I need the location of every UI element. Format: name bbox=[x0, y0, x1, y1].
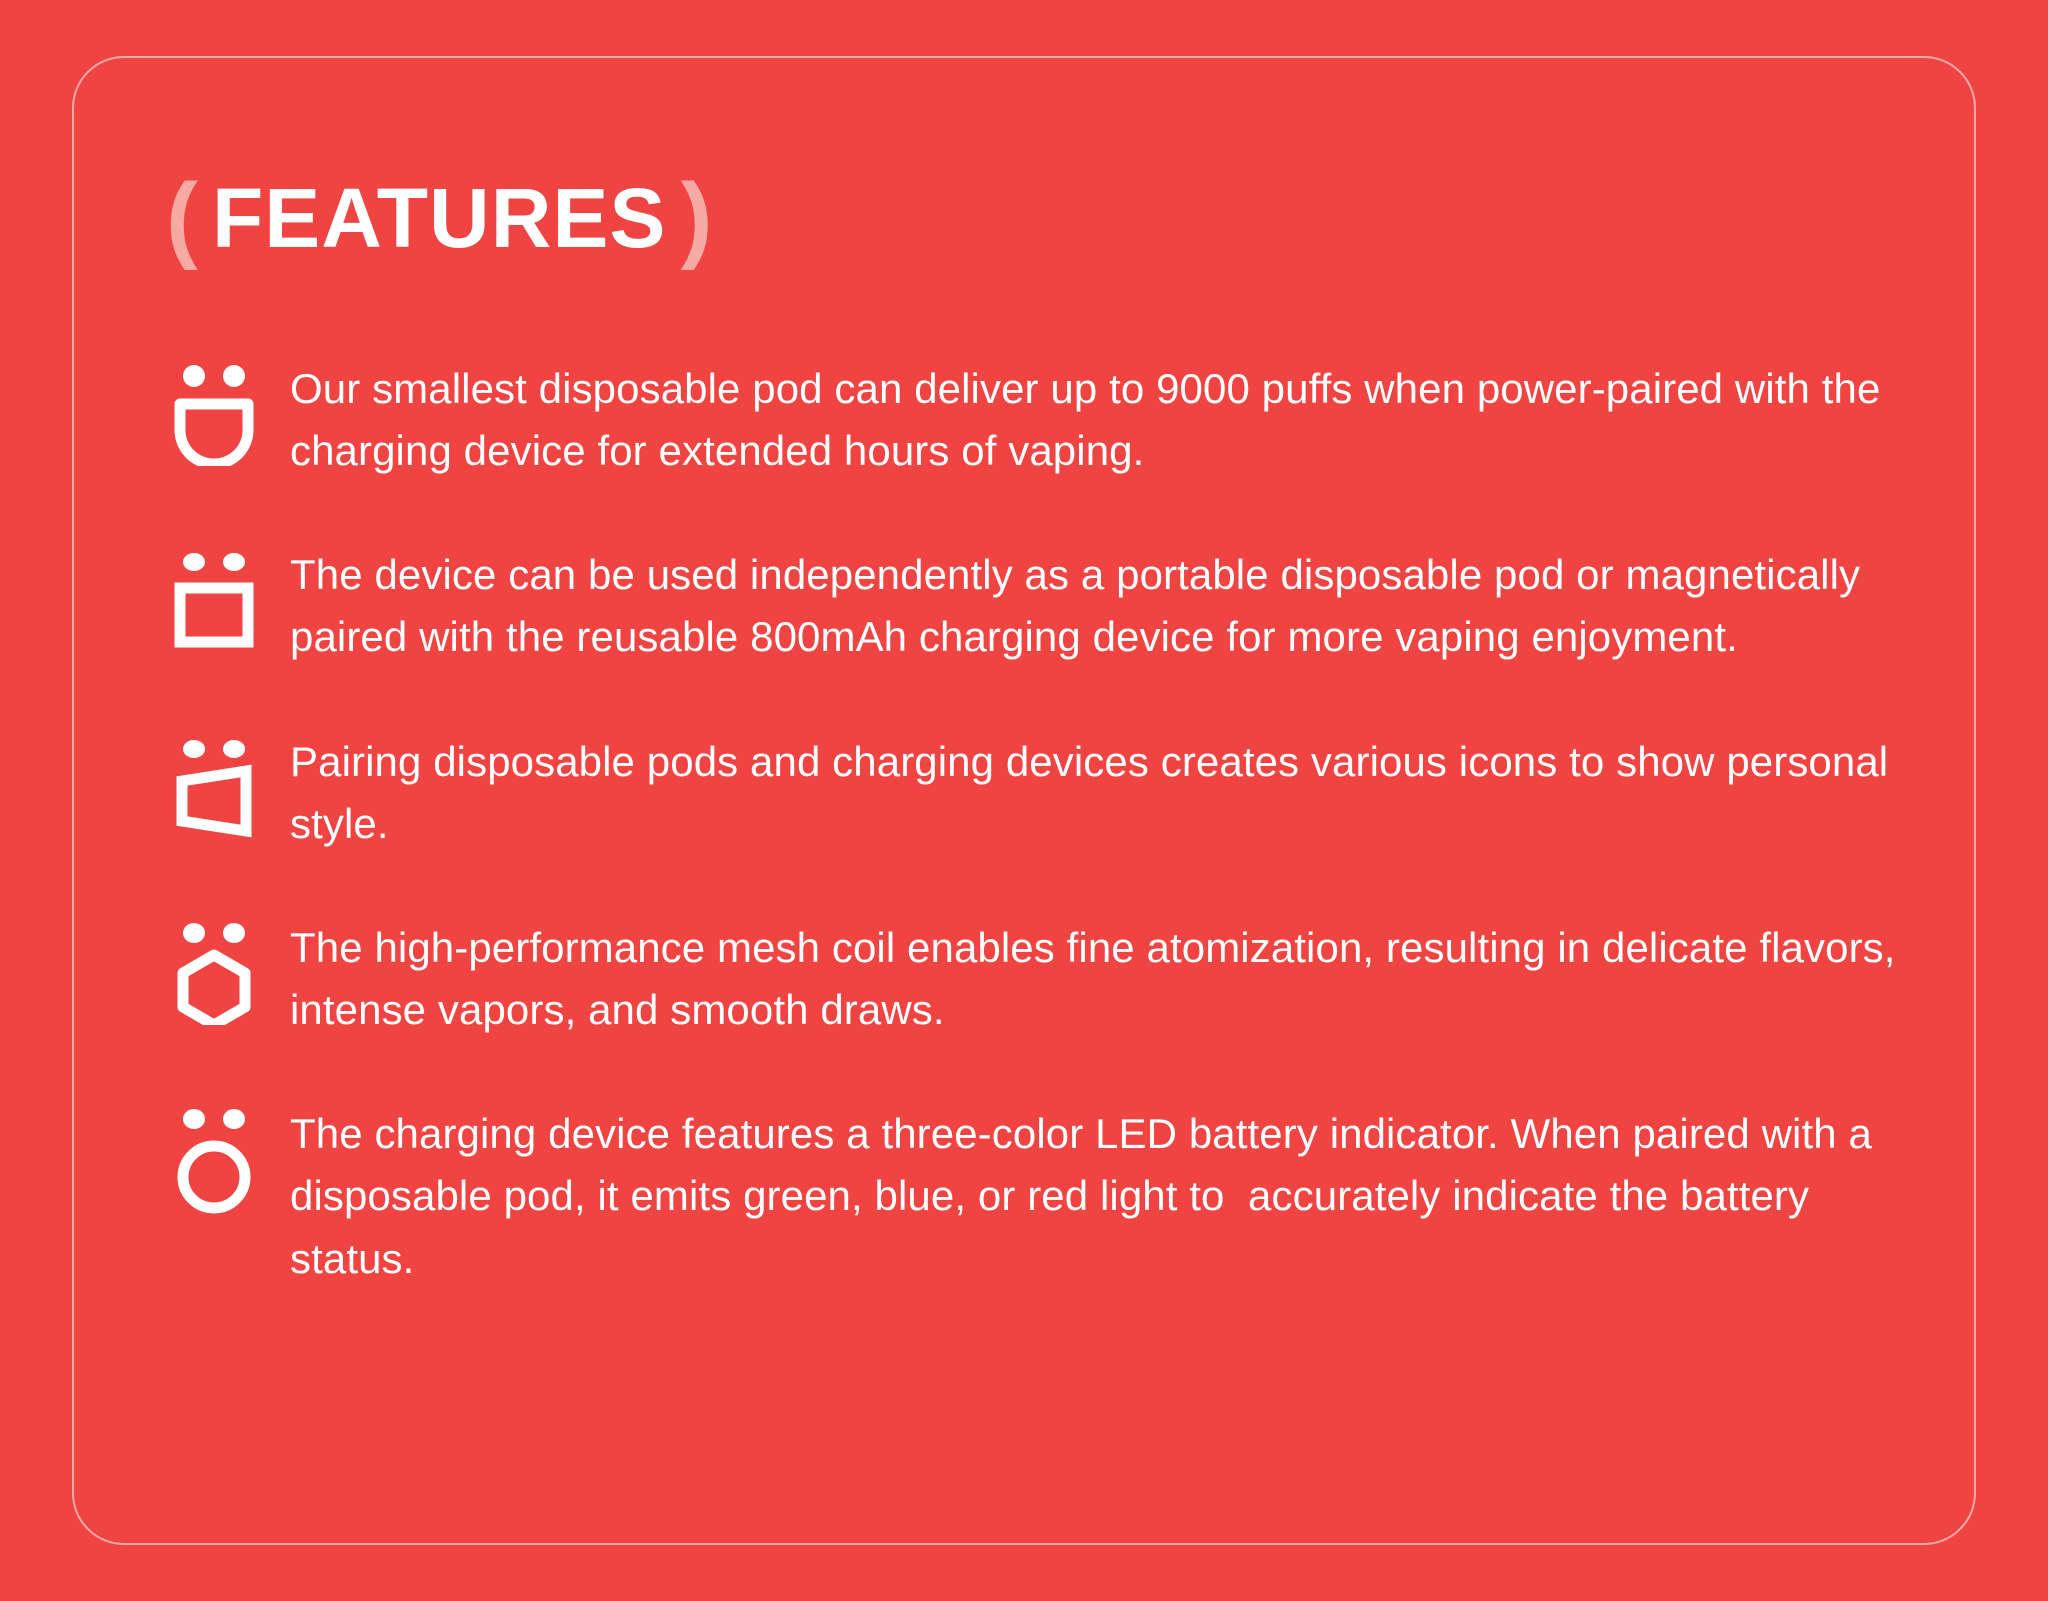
title-bracket-right-icon: ) bbox=[680, 170, 710, 266]
feature-item: The high-performance mesh coil enables f… bbox=[166, 917, 1906, 1041]
page-title: ( FEATURES ) bbox=[166, 166, 710, 270]
face-hexagon-icon bbox=[166, 921, 262, 1025]
feature-text: The device can be used independently as … bbox=[290, 544, 1906, 668]
feature-text: Pairing disposable pods and charging dev… bbox=[290, 731, 1906, 855]
face-rounded-u-icon bbox=[166, 362, 262, 466]
feature-text: The charging device features a three-col… bbox=[290, 1103, 1906, 1289]
feature-text: The high-performance mesh coil enables f… bbox=[290, 917, 1906, 1041]
page-title-text: FEATURES bbox=[212, 176, 666, 260]
face-circle-icon bbox=[166, 1107, 262, 1211]
feature-item: Our smallest disposable pod can deliver … bbox=[166, 358, 1906, 482]
feature-item: The charging device features a three-col… bbox=[166, 1103, 1906, 1289]
face-square-icon bbox=[166, 548, 262, 652]
feature-list: Our smallest disposable pod can deliver … bbox=[166, 358, 1906, 1290]
feature-text: Our smallest disposable pod can deliver … bbox=[290, 358, 1906, 482]
features-card: ( FEATURES ) Our smallest disposable pod… bbox=[72, 56, 1976, 1545]
face-trapezoid-icon bbox=[166, 735, 262, 839]
feature-item: The device can be used independently as … bbox=[166, 544, 1906, 668]
feature-item: Pairing disposable pods and charging dev… bbox=[166, 731, 1906, 855]
title-bracket-left-icon: ( bbox=[166, 170, 196, 266]
